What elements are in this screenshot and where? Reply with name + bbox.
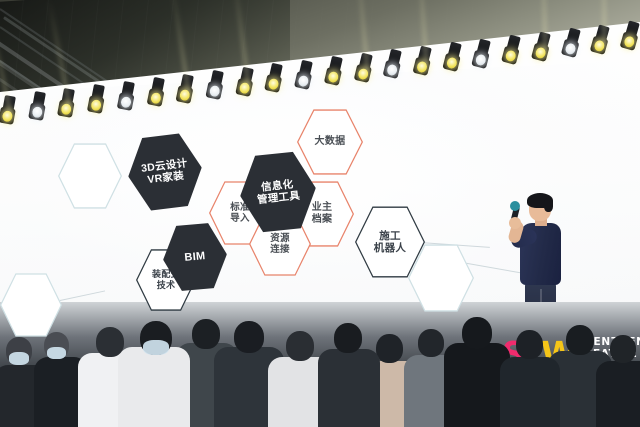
audience-person	[118, 317, 190, 427]
audience-person	[500, 327, 560, 427]
audience-person	[318, 319, 380, 427]
audience-person-head	[418, 329, 444, 357]
hex-empty-left	[58, 142, 122, 210]
hex-label: 资源 连接	[270, 233, 290, 255]
hex-label: 业主 档案	[312, 202, 333, 226]
audience-area	[0, 302, 640, 427]
audience-person-body	[596, 361, 640, 427]
hex-3d-cloud-vr: 3D云设计 VR家装	[124, 130, 207, 214]
audience-person-head	[516, 330, 543, 359]
presenter-hand	[509, 217, 521, 229]
hex-label: 信息化 管理工具	[255, 177, 301, 206]
hex-label: BIM	[184, 250, 206, 265]
face-mask	[47, 347, 66, 359]
audience-person-head	[462, 317, 492, 349]
audience-person-head	[286, 331, 314, 361]
audience-person	[596, 331, 640, 427]
hex-inner-fill	[59, 143, 120, 208]
hex-label: 3D云设计 VR家装	[140, 157, 189, 187]
audience-person-body	[500, 357, 560, 427]
face-mask	[143, 340, 169, 355]
hex-label: 施工 机器人	[374, 230, 406, 255]
audience-person-body	[118, 347, 190, 427]
audience-person-head	[610, 335, 636, 363]
screenshot-stage: 3D云设计 VR家装大数据信息化 管理工具标准 导入业主 档案资源 连接BIM装…	[0, 0, 640, 427]
microphone-head-icon	[510, 201, 520, 211]
hex-connector	[60, 290, 105, 301]
audience-person-head	[566, 325, 594, 355]
audience-person-head	[376, 334, 403, 363]
presenter-hair-back	[544, 198, 553, 212]
audience-person-head	[334, 323, 362, 353]
face-mask	[9, 352, 29, 365]
hex-label: 大数据	[315, 136, 346, 148]
audience-person-body	[318, 349, 380, 427]
audience-person-head	[234, 321, 264, 353]
hex-big-data: 大数据	[297, 108, 363, 176]
